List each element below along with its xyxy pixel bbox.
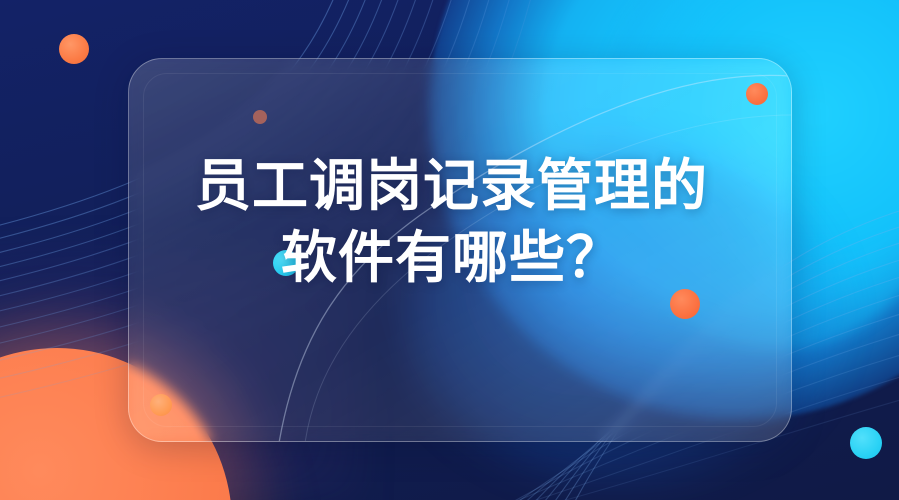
orange-dot-card-top-left — [253, 110, 267, 124]
orange-dot-card-mid — [670, 289, 700, 319]
cyan-dot-bottom-right — [850, 427, 882, 459]
orange-dot-top-left — [59, 34, 89, 64]
card-swoosh-curve — [129, 59, 791, 441]
orange-dot-card-bottom-left — [150, 394, 172, 416]
orange-dot-card-top-right — [746, 83, 768, 105]
cyan-dot-card-left — [273, 250, 299, 276]
panel-inner-outline — [143, 73, 777, 427]
glass-panel — [128, 58, 792, 442]
banner-image: 员工调岗记录管理的 软件有哪些？ — [0, 0, 899, 500]
